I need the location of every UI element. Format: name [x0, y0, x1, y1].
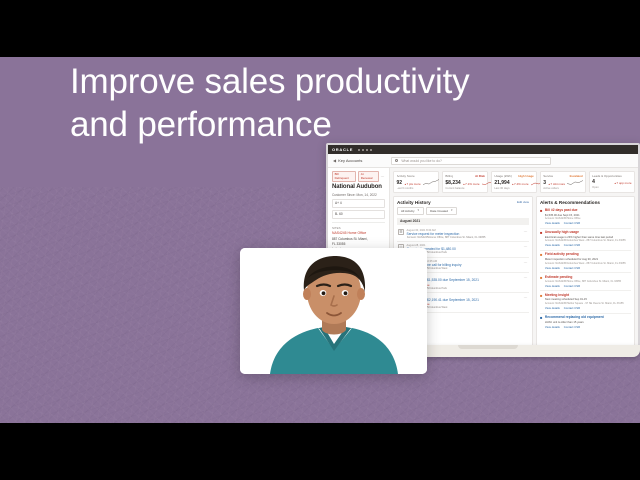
divider [332, 222, 385, 223]
alert-title: Field activity pending [545, 253, 631, 257]
search-input[interactable]: What would you like to do? [391, 157, 551, 165]
list-item[interactable]: ■ Estimate pending Account: NAS4245/Home… [540, 273, 631, 291]
slide-stage: Improve sales productivity and performan… [0, 0, 640, 480]
site-address-line-1: 887 Columbus St. Miami, [332, 237, 385, 241]
kpi-label: Activity Score [397, 174, 415, 178]
alert-meta: Account: NAS4245/Columbus West - 887 Col… [545, 239, 631, 242]
alert-title: Bill #2 days past due [545, 209, 631, 213]
kpi-label: Service [543, 174, 553, 178]
contact-csr-link[interactable]: Contact CSR [564, 284, 580, 288]
alert-title: Unusually high usage [545, 231, 631, 235]
kpi-badge: At Risk [475, 174, 485, 178]
filter-label: All Activity [401, 209, 415, 213]
sparkline-icon [423, 179, 439, 186]
kpi-sub: Last 30 days [494, 187, 533, 190]
activity-panel-title: Activity History [397, 200, 431, 205]
alert-meta: Account: NAS4245/Columbus West - 887 Col… [545, 262, 631, 265]
month-group-header: August 2021 [397, 218, 529, 225]
kpi-sub: Open [592, 186, 631, 189]
kpi-value: 4 [592, 179, 595, 185]
view-details-link[interactable]: View details [545, 306, 560, 310]
main-content: Activity Score 92 7 pts more Last 6 mont… [390, 168, 638, 347]
search-placeholder: What would you like to do? [401, 159, 442, 163]
letterbox-top [0, 0, 640, 57]
row-overflow-menu[interactable]: ⋯ [523, 260, 528, 270]
alert-medium-icon: ■ [540, 276, 542, 288]
alert-high-icon: ■ [540, 209, 542, 225]
kpi-card-leads[interactable]: Leads & Opportunities 4 7 opp more Open [589, 171, 635, 193]
account-tags: Bill Delinquent At Renewal ⋯ [332, 171, 385, 182]
kpi-label: Usage (kWh) [494, 174, 512, 178]
alert-meta: Account: NAS4245/Home Office, 887 Columb… [545, 280, 631, 283]
alert-desc: HVAC unit is older than 15 years [545, 321, 631, 325]
alert-meta: Account: NAS4245/Harbor Square - 97 SE O… [545, 302, 631, 305]
list-item[interactable]: ■ Unusually high usage Electrical usage … [540, 229, 631, 251]
breadcrumb-label: Key Accounts [338, 158, 362, 163]
activity-filters: All Activity ▼ Date Created ▼ [397, 207, 529, 215]
alert-title: Recommend replacing old equipment [545, 316, 631, 320]
account-since: Customer Since: Mon, 14, 2022 [332, 193, 385, 197]
laptop-notch [458, 345, 518, 349]
row-overflow-menu[interactable]: ⋯ [523, 295, 528, 309]
sidebar-overflow-menu[interactable]: ⋯ [381, 174, 386, 179]
kpi-value: 3 [543, 180, 546, 186]
chevron-left-icon: ◀ [333, 158, 336, 163]
page-title: Improve sales productivity and performan… [70, 61, 500, 146]
list-item[interactable]: ■ Bill #2 days past due $1,535.00 due Se… [540, 207, 631, 229]
alert-high-icon: ■ [540, 231, 542, 247]
contact-csr-link[interactable]: Contact CSR [564, 221, 580, 225]
contact-csr-link[interactable]: Contact CSR [564, 306, 580, 310]
contact-csr-link[interactable]: Contact CSR [564, 325, 580, 329]
panels-row: Activity History Edit view All Activity … [393, 196, 635, 346]
contact-csr-link[interactable]: Contact CSR [564, 243, 580, 247]
row-overflow-menu[interactable]: ⋯ [523, 244, 528, 254]
kpi-delta: 7.1% more [463, 182, 480, 186]
view-details-link[interactable]: View details [545, 325, 560, 329]
oracle-logo: ORACLE [332, 147, 353, 152]
alert-medium-icon: ■ [540, 294, 542, 310]
account-score-a: A+ 4 [332, 199, 385, 208]
list-item[interactable]: ■ Meeting insight Next meeting scheduled… [540, 291, 631, 313]
app-subheader: ◀ Key Accounts What would you like to do… [328, 154, 638, 168]
row-overflow-menu[interactable]: ⋯ [523, 275, 528, 289]
alert-info-icon: ■ [540, 316, 542, 329]
kpi-value: $8,234 [445, 180, 460, 186]
account-name: National Audubon [332, 184, 385, 190]
kpi-delta: 7 tckt more [548, 182, 565, 186]
search-icon [395, 159, 398, 162]
avatar [240, 248, 427, 374]
alerts-panel: Alerts & Recommendations ■ Bill #2 days … [536, 196, 635, 346]
breadcrumb[interactable]: ◀ Key Accounts [333, 158, 362, 163]
view-details-link[interactable]: View details [545, 266, 560, 270]
chevron-down-icon: ▼ [450, 209, 453, 212]
kpi-delta: 7.4% more [512, 182, 529, 186]
contact-csr-link[interactable]: Contact CSR [564, 266, 580, 270]
status-badge: At Renewal [358, 171, 378, 182]
kpi-value: 21,994 [494, 180, 509, 186]
note-icon: ☰ [398, 229, 404, 235]
alert-meta: Account: NAS4245/Home Office [545, 217, 631, 220]
kpi-badge: High Usage [518, 174, 533, 178]
kpi-sub: Current balance [445, 187, 484, 190]
headline-line-1: Improve sales productivity [70, 61, 500, 104]
edit-view-link[interactable]: Edit view [517, 200, 529, 204]
kpi-card-activity-score[interactable]: Activity Score 92 7 pts more Last 6 mont… [393, 171, 439, 193]
chevron-down-icon: ▼ [417, 209, 420, 212]
site-address-line-2: FL 33055 [332, 242, 385, 246]
kpi-strip: Activity Score 92 7 pts more Last 6 mont… [393, 171, 635, 193]
list-item[interactable]: ■ Recommend replacing old equipment HVAC… [540, 314, 631, 332]
sites-label: SITES [332, 226, 385, 230]
list-item[interactable]: ■ Field activity pending Meter inspectio… [540, 251, 631, 273]
alerts-panel-title: Alerts & Recommendations [540, 200, 631, 205]
kpi-card-billing[interactable]: Billing At Risk $8,234 7.1% more Current… [442, 171, 488, 193]
filter-date-created[interactable]: Date Created ▼ [426, 207, 457, 215]
kpi-label: Billing [445, 174, 453, 178]
view-details-link[interactable]: View details [545, 221, 560, 225]
kpi-badge: Escalated [570, 174, 583, 178]
headline-line-2: and performance [70, 104, 500, 147]
alert-medium-icon: ■ [540, 253, 542, 269]
primary-site[interactable]: NAS4245 Home Office [332, 231, 385, 235]
kpi-delta: 7 pts more [404, 182, 421, 186]
filter-all-activity[interactable]: All Activity ▼ [397, 207, 424, 215]
row-overflow-menu[interactable]: ⋯ [523, 229, 528, 239]
letterbox-bottom [0, 423, 640, 480]
kpi-sub: Last 6 months [397, 187, 436, 190]
kpi-card-usage[interactable]: Usage (kWh) High Usage 21,994 7.4% more … [491, 171, 537, 193]
view-details-link[interactable]: View details [545, 284, 560, 288]
account-score-b: B- 60 [332, 210, 385, 219]
header-icons [358, 149, 372, 151]
list-item[interactable]: ☰ August 30, 2021 8:30 AM Service reques… [397, 227, 529, 243]
kpi-value: 92 [397, 180, 403, 186]
kpi-label: Leads & Opportunities [592, 174, 622, 178]
filter-label: Date Created [430, 209, 448, 213]
kpi-delta: 7 opp more [614, 181, 632, 185]
kpi-card-service[interactable]: Service Escalated 3 7 tckt more Active o… [540, 171, 586, 193]
sparkline-icon [567, 179, 583, 186]
activity-meta: Account: NAS4245/Home Office, 887 Columb… [407, 236, 521, 239]
presenter-avatar [240, 248, 427, 374]
kpi-sub: Active orders [543, 187, 582, 190]
status-badge: Bill Delinquent [332, 171, 356, 182]
view-details-link[interactable]: View details [545, 243, 560, 247]
